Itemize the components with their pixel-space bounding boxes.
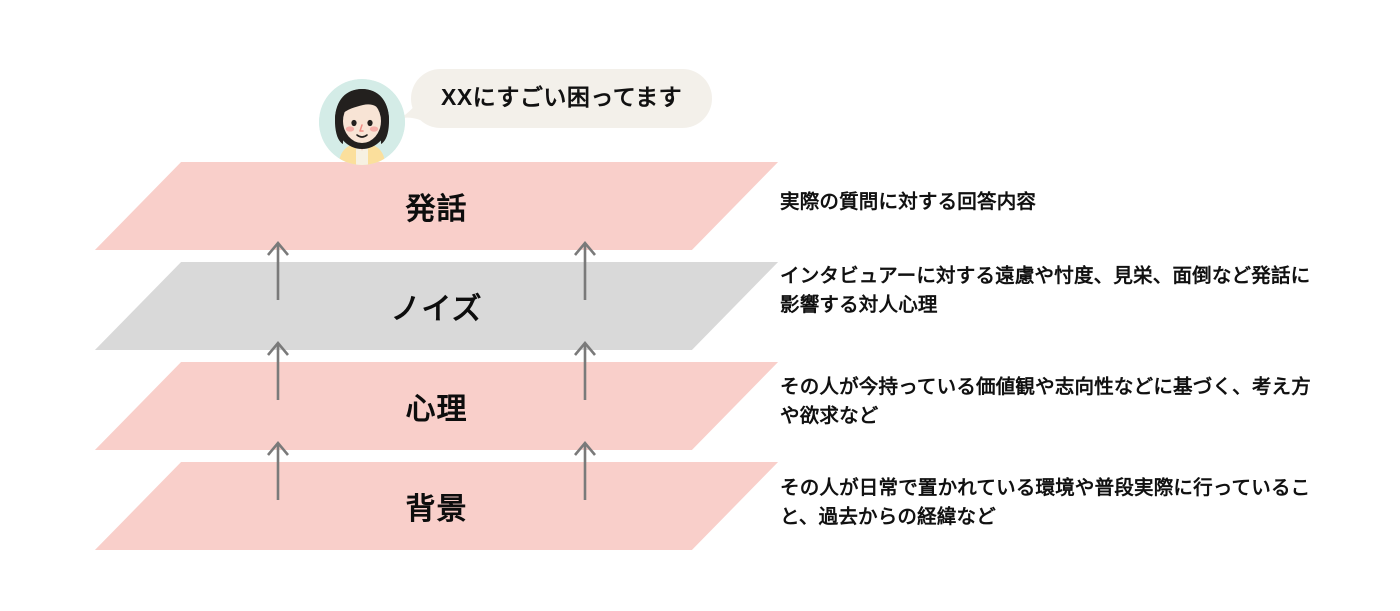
layer-description-utterance: 実際の質問に対する回答内容 <box>780 188 1320 217</box>
arrow-up-icon <box>265 338 291 400</box>
diagram-canvas: 発話 ノイズ 心理 背景 <box>0 0 1400 611</box>
layer-description-noise: インタビュアーに対する遠慮や忖度、見栄、面倒など発話に影響する対人心理 <box>780 262 1320 321</box>
interviewee-avatar <box>319 79 405 165</box>
layer-shape-background[interactable]: 背景 <box>95 462 778 550</box>
layer-shape-noise[interactable]: ノイズ <box>95 262 778 350</box>
arrow-up-icon <box>265 238 291 300</box>
layer-shape-psychology[interactable]: 心理 <box>95 362 778 450</box>
layer-label-background: 背景 <box>138 462 735 550</box>
arrow-up-icon <box>265 438 291 500</box>
layer-description-background: その人が日常で置かれている環境や普段実際に行っていること、過去からの経緯など <box>780 474 1320 533</box>
arrow-up-icon <box>572 238 598 300</box>
arrow-up-icon <box>572 338 598 400</box>
speech-bubble: XXにすごい困ってます <box>411 69 712 128</box>
layer-shape-utterance[interactable]: 発話 <box>95 162 778 250</box>
layer-description-psychology: その人が今持っている価値観や志向性などに基づく、考え方や欲求など <box>780 373 1320 432</box>
speech-bubble-text: XXにすごい困ってます <box>441 86 682 109</box>
layer-label-psychology: 心理 <box>138 362 735 450</box>
layer-label-noise: ノイズ <box>138 262 735 350</box>
layer-label-utterance: 発話 <box>138 162 735 250</box>
arrow-up-icon <box>572 438 598 500</box>
